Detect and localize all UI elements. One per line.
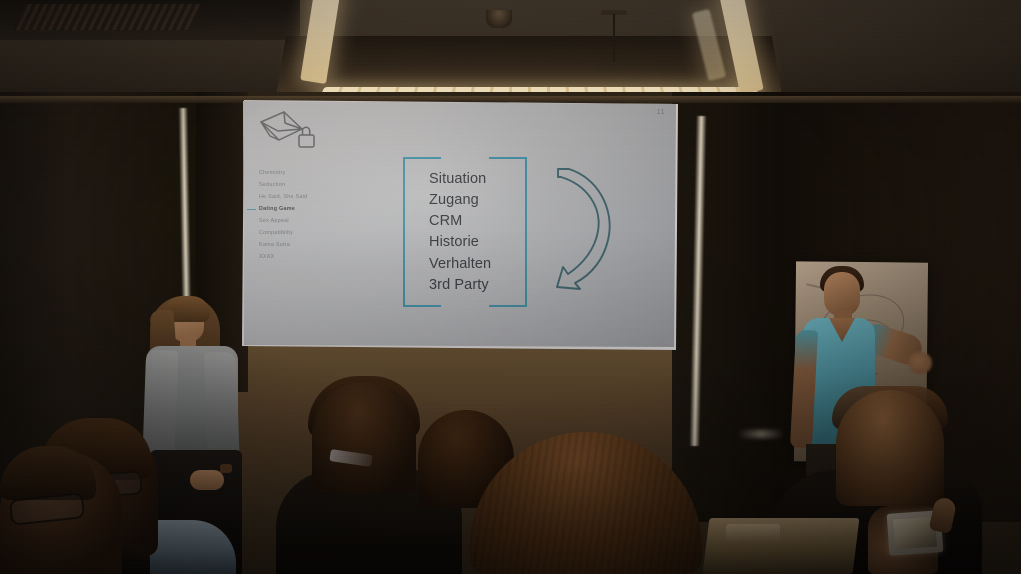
- photo-scene: 11 Chemistry Seduction He Said, She Said…: [0, 0, 1021, 574]
- bracket-top-left-horizontal: [403, 157, 441, 159]
- bracket-right-vertical: [525, 157, 527, 307]
- agenda-item-chemistry: Chemistry: [259, 171, 355, 176]
- agenda-item-sex-appeal: Sex Appeal: [259, 219, 355, 224]
- bullet-3rd-party: 3rd Party: [429, 275, 491, 296]
- agenda-item-xxxx: XXXX: [259, 255, 355, 260]
- audience-member-right-head: [836, 390, 944, 506]
- bracket-bottom-left-horizontal: [403, 305, 441, 307]
- slide-bullet-list: Situation Zugang CRM Historie Verhalten …: [429, 169, 491, 296]
- curtain-rod: [0, 96, 1021, 103]
- agenda-item-kama-sutra: Kama Sutra: [259, 243, 355, 248]
- ceiling-grille: [12, 4, 201, 30]
- curved-loop-arrow-icon: [547, 163, 621, 291]
- agenda-item-he-said-she-said: He Said, She Said: [259, 195, 355, 200]
- ceiling-speaker-icon: [486, 10, 512, 28]
- table-object: [726, 524, 780, 542]
- bullet-situation: Situation: [429, 169, 491, 190]
- man-hand: [908, 352, 932, 374]
- bullet-verhalten: Verhalten: [429, 254, 491, 275]
- audience-member-lanyard-head: [312, 382, 416, 494]
- envelope-with-padlock-icon: [258, 109, 320, 155]
- bullet-crm: CRM: [429, 211, 491, 232]
- agenda-item-dating-game: Dating Game: [259, 207, 355, 212]
- bracket-top-right-horizontal: [489, 157, 527, 159]
- bracket-left-vertical: [403, 157, 405, 307]
- woman-clasped-hands: [190, 470, 224, 490]
- ceiling-suspension-rod: [613, 14, 615, 62]
- bracket-bottom-right-horizontal: [489, 305, 527, 307]
- agenda-item-seduction: Seduction: [259, 183, 355, 188]
- window-light-reflection: [739, 430, 783, 438]
- agenda-item-compatibility: Compatibility: [259, 231, 355, 236]
- projection-screen: 11 Chemistry Seduction He Said, She Said…: [243, 99, 677, 349]
- bullet-historie: Historie: [429, 232, 491, 253]
- woman-wristwatch: [220, 464, 232, 473]
- slide-page-number: 11: [657, 109, 665, 116]
- slide-agenda-list: Chemistry Seduction He Said, She Said Da…: [259, 171, 355, 267]
- bullet-zugang: Zugang: [429, 190, 491, 211]
